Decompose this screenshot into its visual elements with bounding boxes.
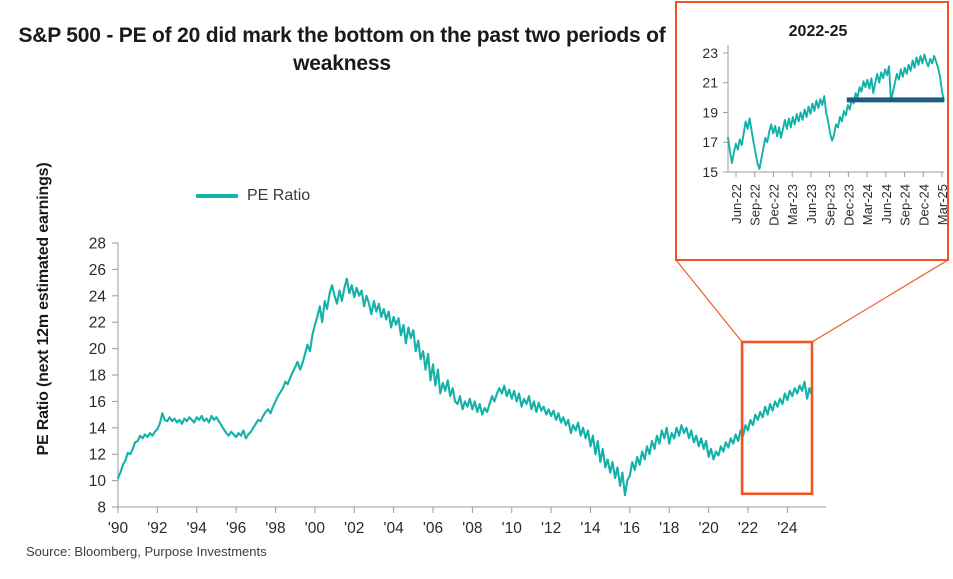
x-tick-label: '98 (265, 520, 285, 537)
inset-y-tick-label: 17 (702, 134, 718, 150)
x-tick-label: '08 (462, 520, 482, 537)
y-tick-label: 24 (89, 288, 107, 305)
inset-y-tick-label: 23 (702, 45, 718, 61)
x-tick-label: '94 (187, 520, 208, 537)
y-tick-label: 18 (89, 368, 106, 385)
inset-x-tick-label: Jun-23 (804, 184, 819, 224)
main-series-pe-ratio (118, 279, 811, 495)
x-tick-label: '04 (384, 520, 405, 537)
y-tick-label: 20 (89, 341, 107, 358)
inset-x-tick-label: Sep-22 (748, 184, 763, 226)
y-tick-label: 16 (89, 394, 106, 411)
x-tick-label: '24 (777, 520, 798, 537)
x-tick-label: '14 (580, 520, 601, 537)
x-tick-label: '90 (108, 520, 129, 537)
inset-x-tick-label: Mar-24 (860, 184, 875, 225)
y-tick-label: 28 (89, 236, 106, 253)
chart-container: S&P 500 - PE of 20 did mark the bottom o… (0, 0, 953, 579)
inset-x-tick-label: Sep-24 (898, 184, 913, 226)
zoom-connector-line (812, 260, 948, 342)
y-tick-label: 8 (97, 500, 106, 517)
inset-y-tick-label: 15 (702, 164, 718, 180)
zoom-region-rect (742, 342, 812, 494)
inset-x-tick-label: Mar-25 (935, 184, 950, 225)
zoom-connector-line (676, 260, 742, 342)
x-tick-label: '92 (147, 520, 167, 537)
inset-chart-2022-25: 2022-251517192123Jun-22Sep-22Dec-22Mar-2… (676, 2, 950, 260)
y-tick-label: 26 (89, 262, 106, 279)
y-tick-label: 10 (89, 473, 107, 490)
x-tick-label: '06 (423, 520, 443, 537)
inset-x-tick-label: Dec-22 (766, 184, 781, 226)
zoom-region-box (742, 342, 812, 494)
inset-x-tick-label: Sep-23 (823, 184, 838, 226)
y-tick-label: 14 (89, 420, 107, 437)
zoom-connector-lines (676, 260, 948, 342)
x-tick-label: '96 (226, 520, 246, 537)
main-axis: 810121416182022242628'90'92'94'96'98'00'… (89, 236, 826, 538)
x-tick-label: '18 (659, 520, 679, 537)
inset-title: 2022-25 (789, 23, 848, 40)
x-tick-label: '22 (738, 520, 758, 537)
inset-x-tick-label: Mar-23 (785, 184, 800, 225)
x-tick-label: '12 (541, 520, 561, 537)
x-tick-label: '20 (699, 520, 720, 537)
inset-y-tick-label: 21 (702, 75, 718, 91)
x-tick-label: '16 (620, 520, 640, 537)
chart-svg: 810121416182022242628'90'92'94'96'98'00'… (0, 0, 953, 579)
y-tick-label: 22 (89, 315, 106, 332)
inset-y-tick-label: 19 (702, 104, 718, 120)
x-tick-label: '10 (502, 520, 523, 537)
inset-x-tick-label: Jun-24 (879, 184, 894, 224)
source-note: Source: Bloomberg, Purpose Investments (26, 544, 267, 559)
inset-x-tick-label: Dec-23 (841, 184, 856, 226)
x-tick-label: '00 (305, 520, 326, 537)
inset-x-tick-label: Dec-24 (916, 184, 931, 226)
inset-x-tick-label: Jun-22 (729, 184, 744, 224)
y-tick-label: 12 (89, 447, 106, 464)
series-line-pe-ratio (118, 279, 811, 495)
x-tick-label: '02 (344, 520, 364, 537)
